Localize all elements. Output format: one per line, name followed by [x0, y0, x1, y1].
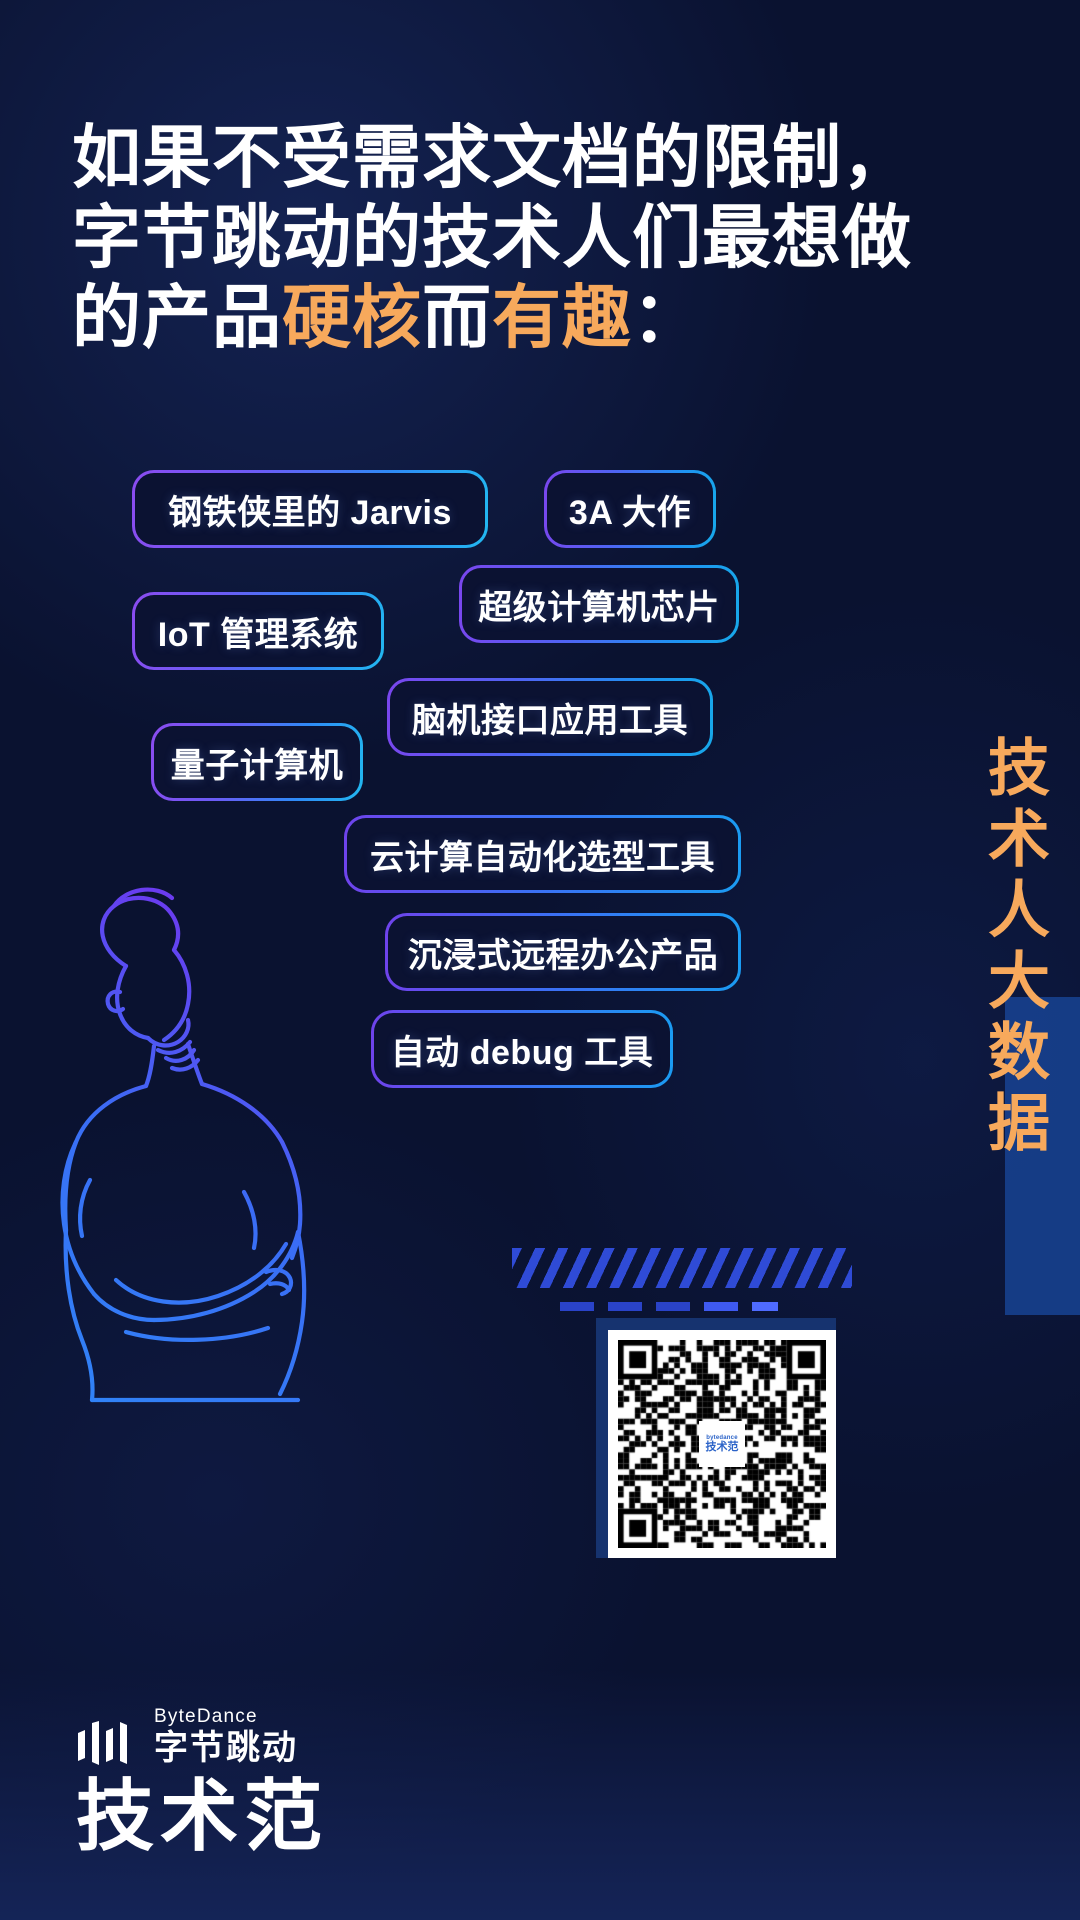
page-title: 如果不受需求文档的限制， 字节跳动的技术人们最想做 的产品硬核而有趣：: [72, 118, 892, 358]
bytedance-name-cn: 字节跳动: [154, 1731, 298, 1765]
vertical-title: 技术人大数据: [981, 735, 1044, 1161]
qr-center-logo: bytedance 技术范: [699, 1421, 745, 1467]
headline-seg-highlight-1: 硬核: [282, 279, 422, 356]
headline-seg-plain-1: 的产品: [72, 279, 282, 356]
diagonal-stripes: [512, 1248, 852, 1288]
idea-pill-bci-tools[interactable]: 脑机接口应用工具: [387, 678, 713, 756]
qr-center-label-cn: 技术范: [706, 1442, 739, 1453]
dash-segment: [608, 1302, 642, 1311]
idea-pill-label: 自动 debug 工具: [361, 1025, 683, 1074]
idea-pill-label: 3A 大作: [539, 485, 721, 534]
headline-seg-colon: ：: [632, 279, 702, 356]
idea-pill-supercomputer-chip[interactable]: 超级计算机芯片: [459, 565, 739, 643]
idea-pill-label: 钢铁侠里的 Jarvis: [138, 485, 482, 534]
idea-pill-iot[interactable]: IoT 管理系统: [132, 592, 384, 670]
dash-segment: [704, 1302, 738, 1311]
bytedance-mark-icon: [76, 1721, 138, 1765]
idea-pill-label: IoT 管理系统: [128, 607, 388, 656]
headline-line-1: 如果不受需求文档的限制，: [72, 118, 892, 198]
headline-line-2: 字节跳动的技术人们最想做: [72, 198, 892, 278]
brand-footer: ByteDance 字节跳动 技术范: [76, 1706, 328, 1855]
idea-pill-jarvis[interactable]: 钢铁侠里的 Jarvis: [132, 470, 488, 548]
poster-canvas: 如果不受需求文档的限制， 字节跳动的技术人们最想做 的产品硬核而有趣： 钢铁侠里…: [0, 0, 1080, 1920]
dash-segment: [560, 1302, 594, 1311]
idea-pill-3a-game[interactable]: 3A 大作: [544, 470, 716, 548]
idea-pill-quantum-computer[interactable]: 量子计算机: [151, 723, 363, 801]
idea-pill-auto-debug[interactable]: 自动 debug 工具: [371, 1010, 673, 1088]
idea-pill-label: 云计算自动化选型工具: [340, 830, 745, 879]
bytedance-name-en: ByteDance: [154, 1706, 298, 1728]
dash-segment: [656, 1302, 690, 1311]
idea-pill-label: 脑机接口应用工具: [382, 693, 718, 742]
headline-seg-highlight-2: 有趣: [492, 279, 632, 356]
vertical-title-group: 技术人大数据: [981, 735, 1044, 1161]
qr-code[interactable]: bytedance 技术范: [608, 1330, 836, 1558]
idea-pill-remote-office[interactable]: 沉浸式远程办公产品: [385, 913, 741, 991]
bytedance-logo: ByteDance 字节跳动: [76, 1706, 328, 1765]
account-name: 技术范: [76, 1777, 328, 1855]
headline-seg-plain-2: 而: [422, 279, 492, 356]
dash-row: [560, 1302, 860, 1311]
dash-segment: [752, 1302, 778, 1311]
thinking-person-line-art: [30, 880, 370, 1410]
idea-pill-cloud-selection-tool[interactable]: 云计算自动化选型工具: [344, 815, 741, 893]
bytedance-wordmark: ByteDance 字节跳动: [154, 1706, 298, 1765]
idea-pill-label: 超级计算机芯片: [448, 580, 750, 629]
idea-pill-label: 沉浸式远程办公产品: [378, 928, 749, 977]
headline-line-3: 的产品硬核而有趣：: [72, 278, 892, 358]
idea-pill-label: 量子计算机: [141, 738, 374, 787]
